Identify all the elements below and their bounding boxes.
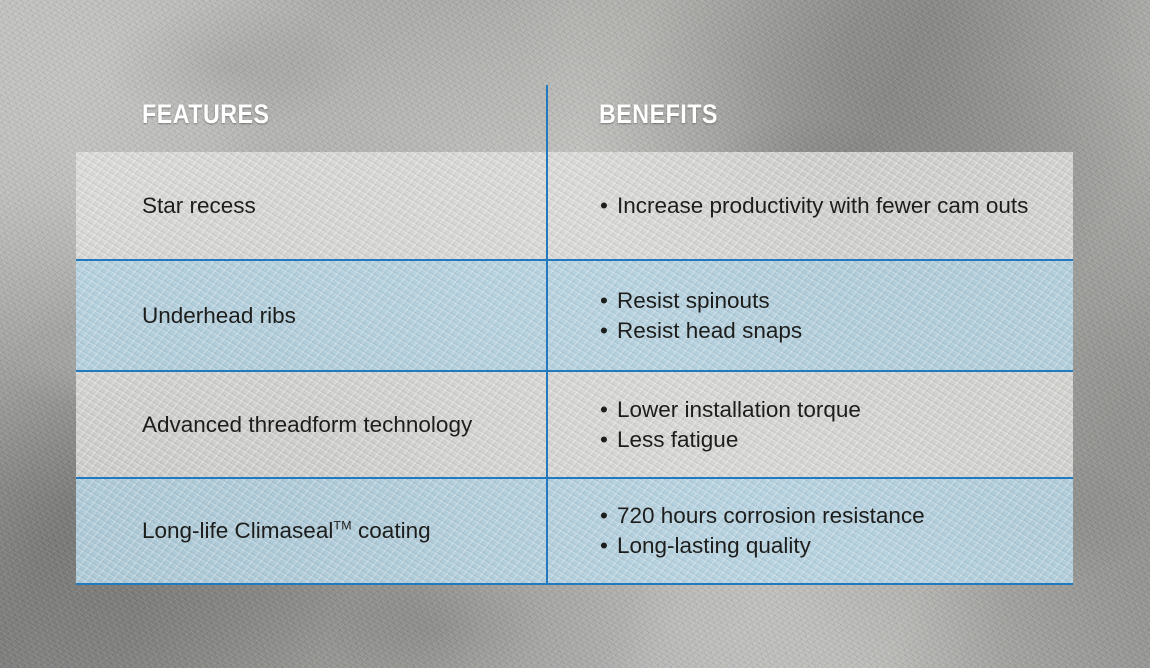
benefit-list: Lower installation torque Less fatigue — [600, 395, 861, 455]
benefit-list: Resist spinouts Resist head snaps — [600, 286, 802, 346]
benefit-item: Resist spinouts — [600, 286, 802, 316]
feature-text-suffix: coating — [352, 518, 431, 543]
benefit-item: Long-lasting quality — [600, 531, 925, 561]
table-row: Star recess Increase productivity with f… — [76, 152, 1073, 259]
column-header-features: FEATURES — [142, 101, 270, 128]
benefit-item: Less fatigue — [600, 425, 861, 455]
feature-cell: Star recess — [76, 152, 546, 259]
benefit-cell: Resist spinouts Resist head snaps — [546, 261, 1073, 370]
benefit-list: Increase productivity with fewer cam out… — [600, 191, 1028, 221]
benefit-cell: 720 hours corrosion resistance Long-last… — [546, 479, 1073, 583]
feature-text-prefix: Long-life Climaseal — [142, 518, 333, 543]
feature-cell: Underhead ribs — [76, 261, 546, 370]
feature-cell: Long-life ClimasealTM coating — [76, 479, 546, 583]
feature-text: Advanced threadform technology — [142, 410, 472, 440]
feature-text: Underhead ribs — [142, 301, 296, 331]
table-row: Underhead ribs Resist spinouts Resist he… — [76, 259, 1073, 372]
feature-text: Star recess — [142, 191, 256, 221]
benefit-cell: Lower installation torque Less fatigue — [546, 372, 1073, 477]
benefit-list: 720 hours corrosion resistance Long-last… — [600, 501, 925, 561]
features-benefits-slide: FEATURES BENEFITS Star recess Increase p… — [0, 0, 1150, 668]
benefit-item: Resist head snaps — [600, 316, 802, 346]
table-row: Advanced threadform technology Lower ins… — [76, 372, 1073, 477]
column-divider-line — [546, 85, 548, 585]
table-row: Long-life ClimasealTM coating 720 hours … — [76, 477, 1073, 585]
feature-text: Long-life ClimasealTM coating — [142, 516, 431, 546]
benefit-cell: Increase productivity with fewer cam out… — [546, 152, 1073, 259]
benefit-item: Lower installation torque — [600, 395, 861, 425]
column-header-benefits: BENEFITS — [599, 101, 718, 128]
benefit-item: 720 hours corrosion resistance — [600, 501, 925, 531]
trademark-symbol: TM — [333, 519, 351, 533]
features-benefits-table: Star recess Increase productivity with f… — [76, 152, 1073, 585]
benefit-item: Increase productivity with fewer cam out… — [600, 191, 1028, 221]
feature-cell: Advanced threadform technology — [76, 372, 546, 477]
